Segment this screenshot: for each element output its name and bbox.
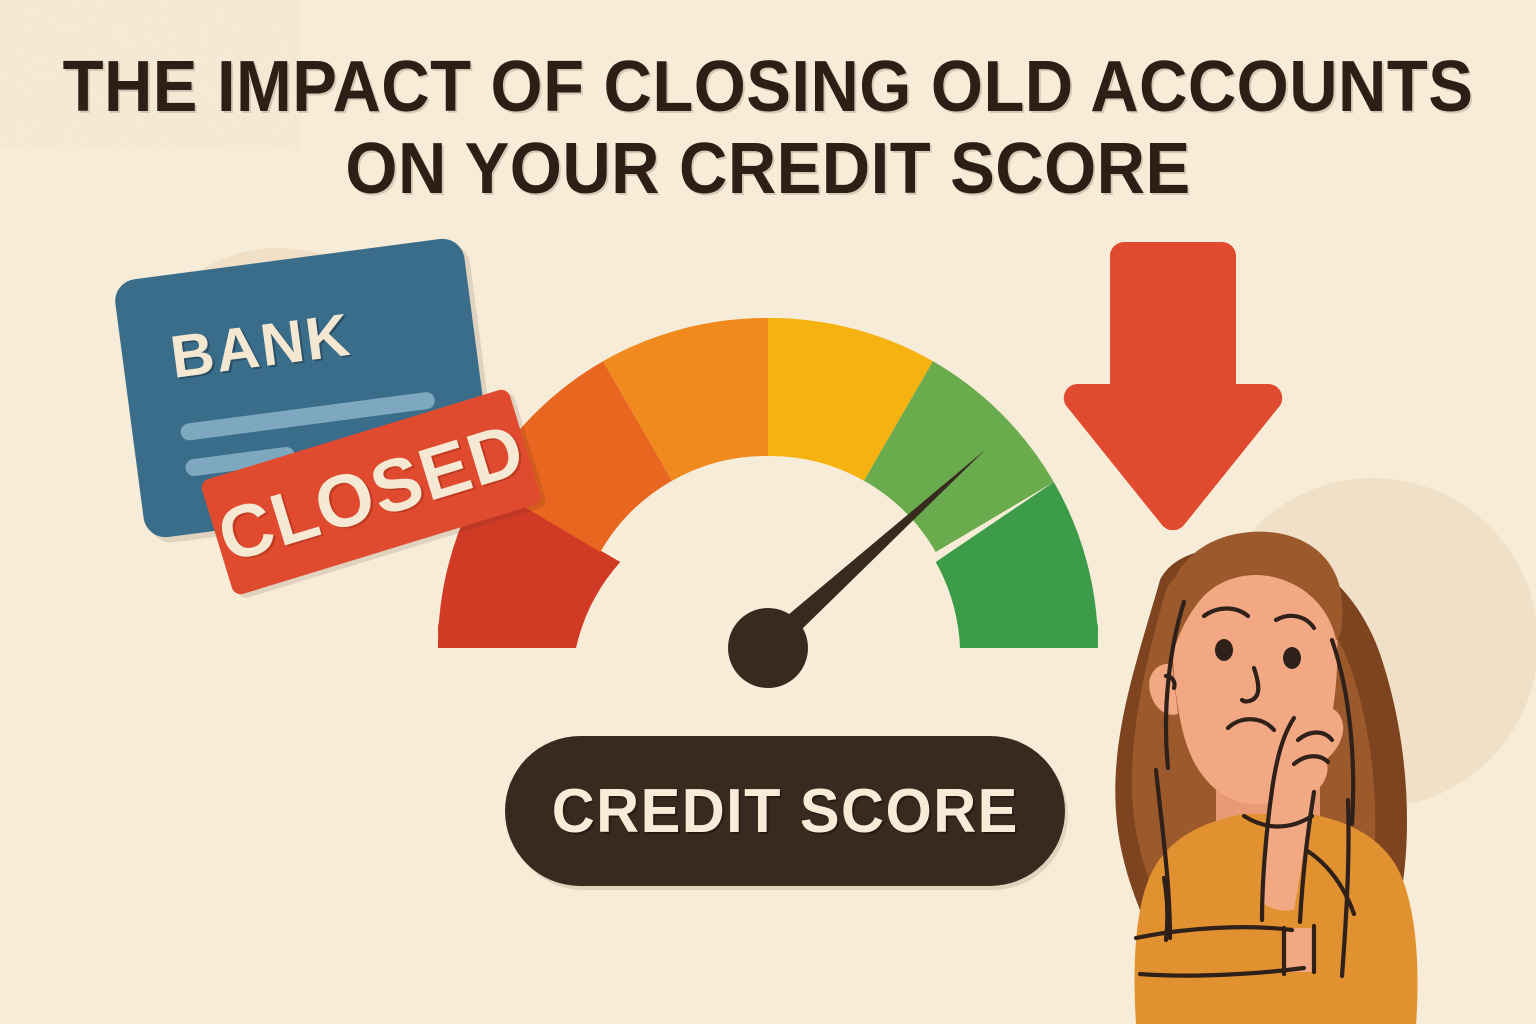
credit-score-badge: CREDIT SCORE — [505, 736, 1065, 886]
eye-left — [1215, 639, 1233, 661]
title-line-1: THE IMPACT OF CLOSING OLD ACCOUNTS — [54, 46, 1482, 128]
worried-woman-illustration — [1048, 440, 1468, 1024]
credit-score-badge-label: CREDIT SCORE — [551, 776, 1018, 847]
wrist — [1284, 928, 1314, 972]
infographic-poster: THE IMPACT OF CLOSING OLD ACCOUNTS ON YO… — [0, 0, 1536, 1024]
eye-right — [1283, 647, 1301, 669]
gauge-segments — [438, 318, 1098, 648]
gauge-cap-left — [438, 612, 576, 648]
title-line-2: ON YOUR CREDIT SCORE — [54, 128, 1482, 210]
needle-hub — [728, 608, 808, 688]
page-title: THE IMPACT OF CLOSING OLD ACCOUNTS ON YO… — [0, 46, 1536, 210]
bank-card-label: BANK — [166, 300, 355, 392]
